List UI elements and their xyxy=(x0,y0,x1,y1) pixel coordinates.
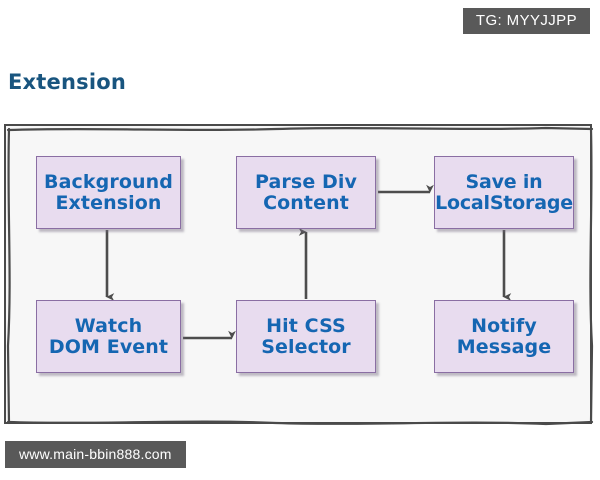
watermark: www.main-bbin888.com xyxy=(5,441,186,468)
node-label: Background Extension xyxy=(44,172,173,213)
node-hit-css-selector[interactable]: Hit CSS Selector xyxy=(236,300,376,373)
node-notify-message[interactable]: Notify Message xyxy=(434,300,574,373)
diagram-frame: Background Extension Parse Div Content S… xyxy=(4,124,592,424)
node-save-in-localstorage[interactable]: Save in LocalStorage xyxy=(434,156,574,229)
node-label: Parse Div Content xyxy=(255,172,357,213)
node-label: Notify Message xyxy=(457,316,551,357)
node-label: Watch DOM Event xyxy=(49,316,168,357)
node-parse-div-content[interactable]: Parse Div Content xyxy=(236,156,376,229)
node-label: Save in LocalStorage xyxy=(435,172,573,213)
page-title: Extension xyxy=(8,72,126,93)
node-label: Hit CSS Selector xyxy=(261,316,351,357)
node-background-extension[interactable]: Background Extension xyxy=(36,156,181,229)
tg-badge: TG: MYYJJPP xyxy=(463,8,590,34)
node-watch-dom-event[interactable]: Watch DOM Event xyxy=(36,300,181,373)
